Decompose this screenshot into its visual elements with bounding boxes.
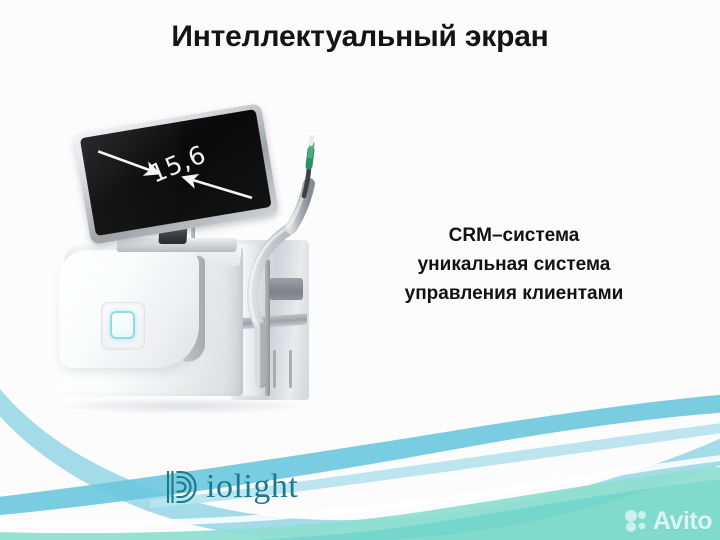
brand-logo-text: iolight: [206, 470, 298, 504]
decorative-waves: [0, 370, 720, 540]
avito-watermark: Avito: [623, 508, 712, 534]
diolight-monogram-icon: [165, 468, 199, 506]
page-title: Интеллектуальный экран: [0, 20, 720, 53]
feature-copy-line: уникальная система: [348, 251, 680, 280]
brand-logo[interactable]: iolight: [165, 468, 298, 506]
feature-copy-line: управления клиентами: [348, 280, 680, 309]
avito-circles-icon: [623, 508, 649, 534]
avito-watermark-text: Avito: [653, 509, 712, 534]
slide-canvas: Интеллектуальный экран: [0, 0, 720, 540]
feature-copy: CRM–система уникальная система управлени…: [348, 222, 680, 309]
feature-copy-line: CRM–система: [348, 222, 680, 251]
